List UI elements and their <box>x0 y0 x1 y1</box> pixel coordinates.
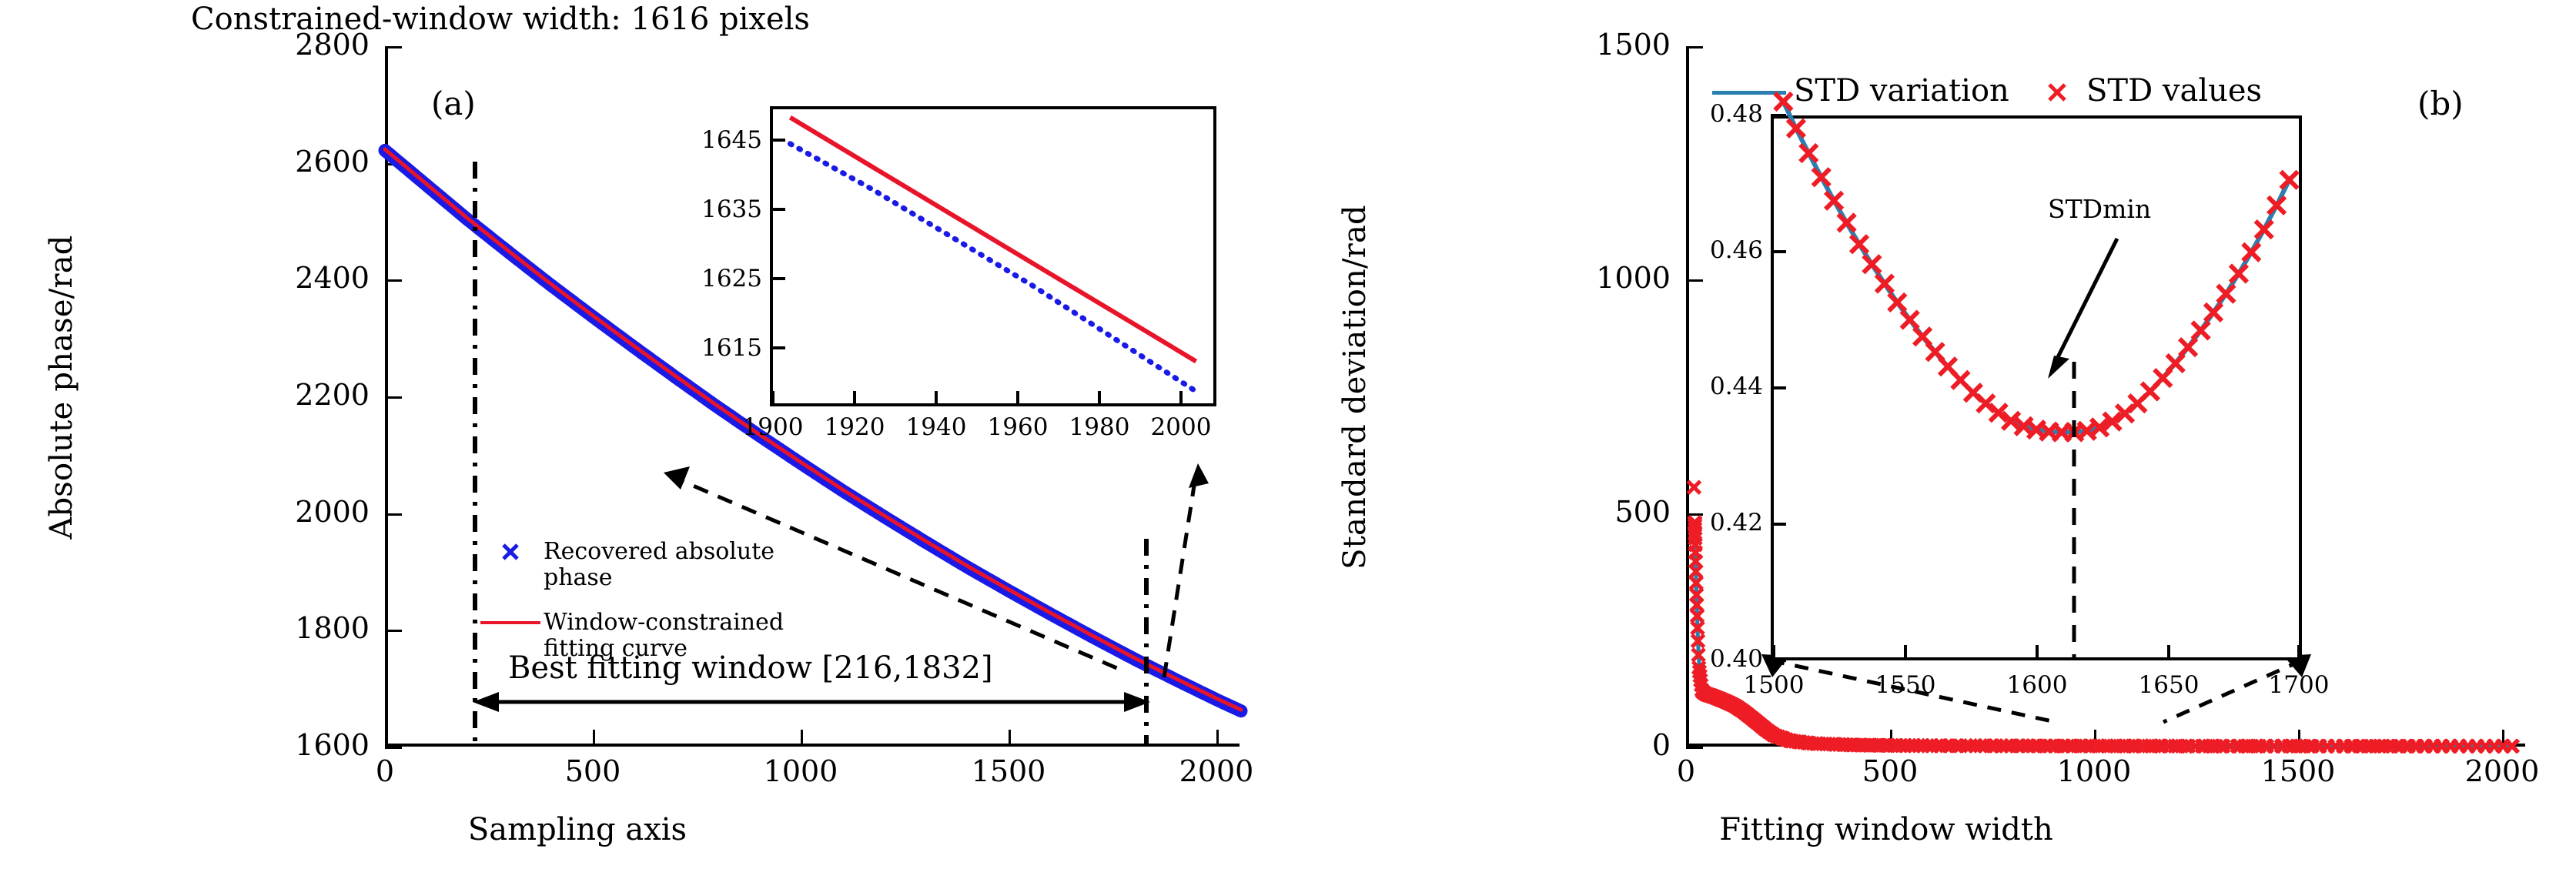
panel-b-inset-xtick-label: 1550 <box>1852 671 1959 699</box>
stdmin-arrow-head <box>2048 356 2069 379</box>
panel-b: Standard deviation/rad Fitting window wi… <box>1278 0 2576 879</box>
panel-a: Constrained-window width: 1616 pixels Ab… <box>0 0 1278 879</box>
panel-a-inset-ytick-label: 1625 <box>654 265 762 292</box>
panel-a-inset-ytick-label: 1615 <box>654 334 762 362</box>
panel-a-inset-xtick-label: 2000 <box>1127 413 1235 441</box>
stdmin-annotation: STDmin <box>2048 194 2151 224</box>
panel-b-inset-ytick-label: 0.44 <box>1648 373 1763 400</box>
panel-b-inset-ytick-label: 0.48 <box>1648 100 1763 128</box>
panel-b-inset-xtick-label: 1650 <box>2115 671 2223 699</box>
stdmin-leader-line <box>2056 239 2117 362</box>
panel-b-inset-ytick-label: 0.46 <box>1648 236 1763 264</box>
figure-root: Constrained-window width: 1616 pixels Ab… <box>0 0 2576 879</box>
panel-b-inset-xtick-label: 1600 <box>1983 671 2091 699</box>
panel-a-inset-ytick-label: 1645 <box>654 126 762 154</box>
panel-b-inset-layer <box>1278 0 2576 879</box>
panel-b-inset-ytick-label: 0.40 <box>1648 645 1763 673</box>
panel-b-inset-xtick-label: 1700 <box>2245 671 2353 699</box>
panel-a-inset-ytick-label: 1635 <box>654 196 762 223</box>
panel-b-inset-xtick-label: 1500 <box>1720 671 1828 699</box>
panel-b-inset-ytick-label: 0.42 <box>1648 509 1763 536</box>
